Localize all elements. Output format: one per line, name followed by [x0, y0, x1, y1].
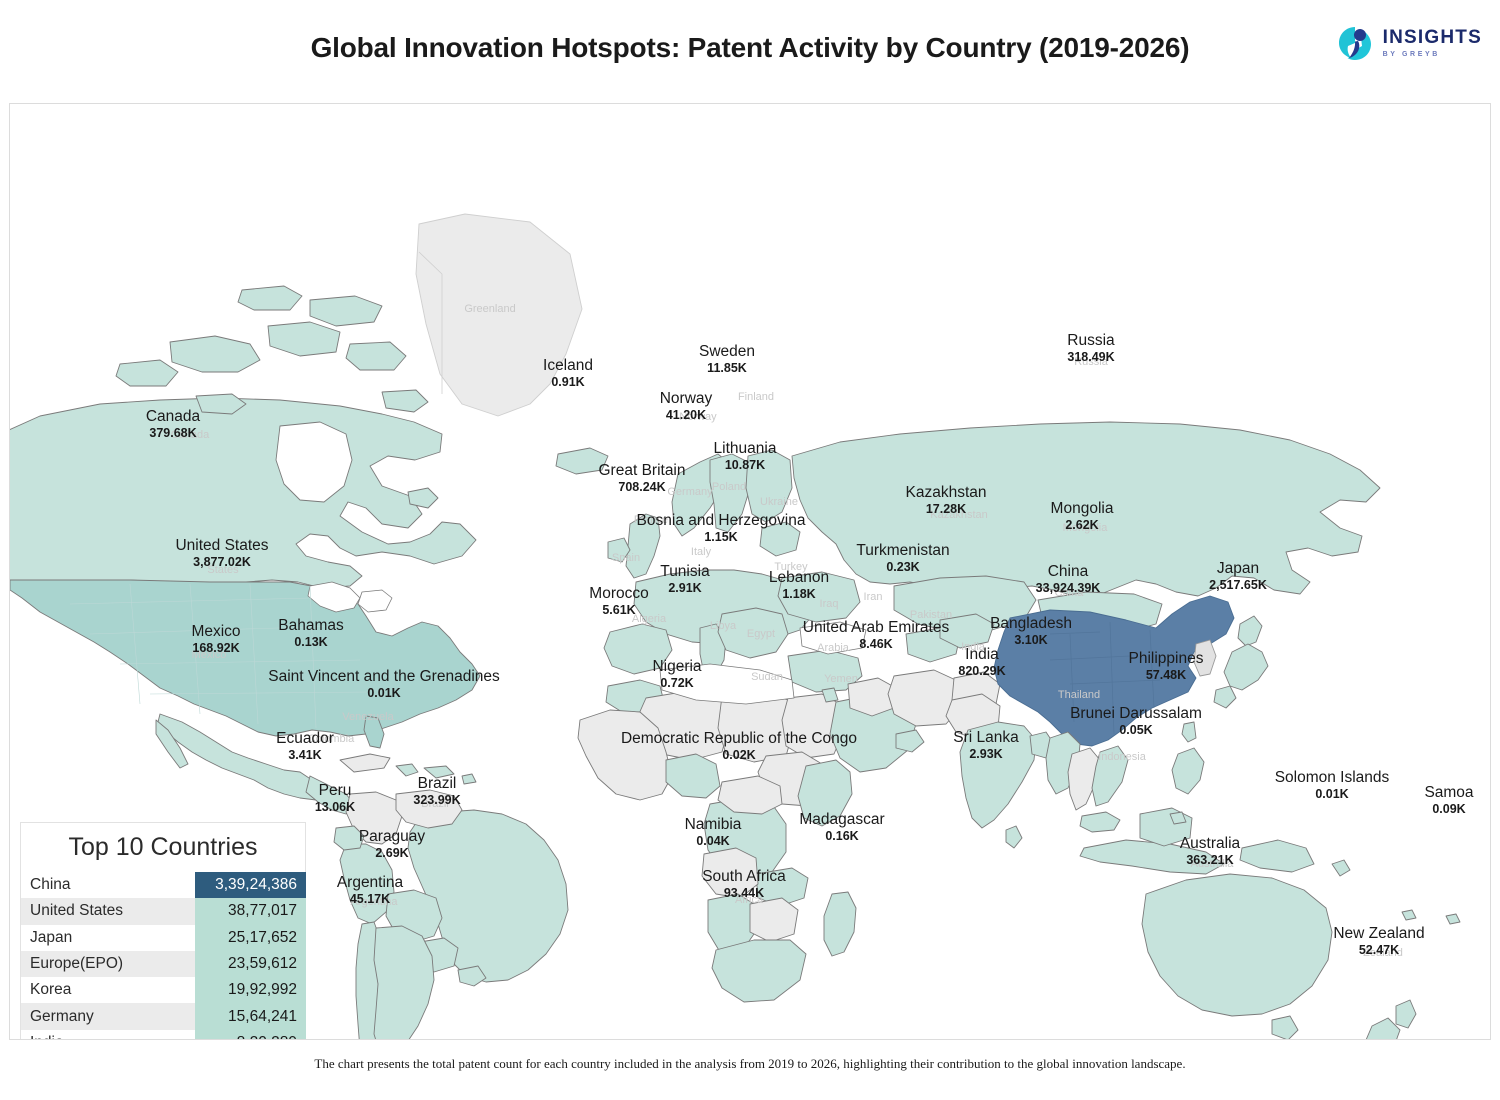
country-peru: [340, 844, 394, 924]
page-title: Global Innovation Hotspots: Patent Activ…: [0, 32, 1500, 64]
row-value: 38,77,017: [195, 898, 306, 924]
country-new-zealand-north: [1396, 1000, 1416, 1028]
world-map[interactable]: GreenlandCanadaStatesMexicoVenezuelaColo…: [9, 103, 1491, 1040]
country-baltics: [760, 522, 800, 556]
country-tasmania: [1272, 1016, 1298, 1040]
country-korea: [1194, 640, 1216, 676]
brand-name: INSIGHTS: [1383, 28, 1482, 47]
insights-logo-icon: [1336, 24, 1374, 62]
table-row[interactable]: Japan25,17,652: [20, 925, 306, 951]
country-uae: [896, 730, 924, 752]
country-taiwan: [1182, 722, 1196, 742]
row-value: 23,59,612: [195, 951, 306, 977]
country-madagascar: [824, 892, 856, 956]
row-country: China: [20, 872, 195, 898]
chart-footnote: The chart presents the total patent coun…: [0, 1056, 1500, 1072]
row-country: United States: [20, 898, 195, 924]
table-row[interactable]: Europe(EPO)23,59,612: [20, 951, 306, 977]
map-chart-page: Global Innovation Hotspots: Patent Activ…: [0, 0, 1500, 1100]
table-row[interactable]: Germany15,64,241: [20, 1003, 306, 1029]
table-row[interactable]: China3,39,24,386: [20, 872, 306, 898]
country-philippines: [1172, 748, 1204, 794]
brand-tagline: BY GREYB: [1383, 51, 1482, 58]
country-borneo: [1140, 808, 1192, 846]
country-japan-kyushu: [1214, 686, 1236, 708]
table-row[interactable]: United States38,77,017: [20, 898, 306, 924]
country-japan-honshu: [1224, 644, 1268, 690]
row-value: 3,39,24,386: [195, 872, 306, 898]
country-balkans: [718, 608, 788, 658]
country-greenland: [416, 214, 582, 416]
country-malaysia: [1080, 812, 1120, 832]
row-country: Germany: [20, 1003, 195, 1029]
row-value: 8,20,289: [195, 1030, 306, 1040]
country-india: [960, 722, 1036, 828]
country-new-zealand-south: [1366, 1018, 1400, 1040]
country-papua-new-guinea: [1240, 840, 1314, 872]
top-10-countries-panel: Top 10 Countries China3,39,24,386United …: [20, 822, 306, 1040]
country-japan: [1238, 616, 1262, 646]
top-10-table: China3,39,24,386United States38,77,017Ja…: [20, 872, 306, 1040]
table-row[interactable]: India8,20,289: [20, 1030, 306, 1040]
country-ukraine: [778, 572, 860, 622]
country-great-britain: [626, 514, 660, 578]
row-country: Europe(EPO): [20, 951, 195, 977]
country-russia: [792, 422, 1380, 598]
country-sweden: [710, 454, 750, 532]
top-10-title: Top 10 Countries: [20, 822, 306, 872]
country-nigeria: [666, 754, 720, 798]
country-iberia: [604, 624, 672, 674]
row-value: 15,64,241: [195, 1003, 306, 1029]
table-row[interactable]: Korea19,92,992: [20, 977, 306, 1003]
country-botswana: [750, 898, 798, 942]
country-solomon-islands: [1332, 860, 1350, 876]
country-angola: [702, 848, 758, 898]
country-south-africa: [712, 940, 806, 1002]
row-value: 19,92,992: [195, 977, 306, 1003]
country-finland: [746, 450, 792, 522]
row-country: Korea: [20, 977, 195, 1003]
country-argentina: [374, 926, 434, 1040]
country-iceland: [556, 448, 608, 474]
chart-header: Global Innovation Hotspots: Patent Activ…: [0, 0, 1500, 96]
row-country: Japan: [20, 925, 195, 951]
brand-logo: INSIGHTS BY GREYB: [1336, 24, 1482, 62]
country-samoa: [1446, 914, 1460, 924]
row-value: 25,17,652: [195, 925, 306, 951]
country-east-africa: [798, 760, 852, 826]
country-venezuela: [396, 790, 462, 828]
country-australia: [1142, 874, 1332, 1016]
country-indonesia: [1080, 840, 1224, 874]
country-canada: [10, 398, 476, 588]
country-sri-lanka: [1006, 826, 1022, 848]
country-vietnam: [1092, 746, 1128, 806]
row-country: India: [20, 1030, 195, 1040]
country-fiji: [1402, 910, 1416, 920]
country-united-states: [10, 580, 480, 736]
